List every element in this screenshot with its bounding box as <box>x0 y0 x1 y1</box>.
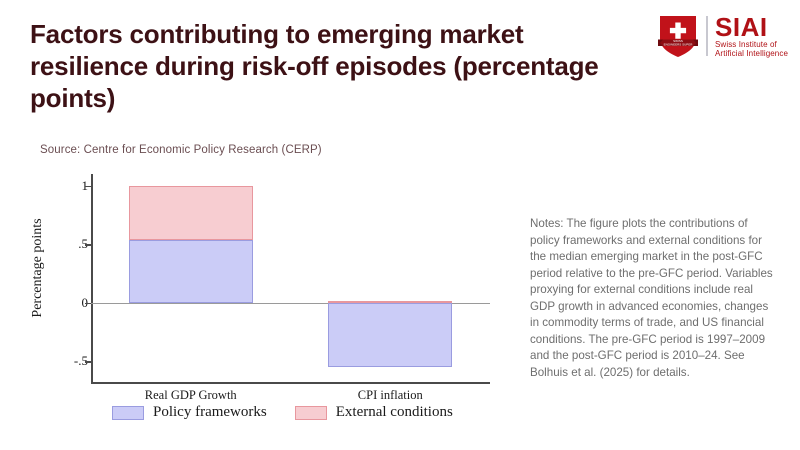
y-tick-label: 1 <box>58 178 88 194</box>
bar-segment[interactable] <box>328 301 452 303</box>
logo-wordmark: SIAI Swiss Institute of Artificial Intel… <box>715 14 788 59</box>
x-category-label: CPI inflation <box>300 388 480 403</box>
svg-text:ENGINEERS SUPER: ENGINEERS SUPER <box>664 42 694 46</box>
legend-entry[interactable]: External conditions <box>295 404 453 421</box>
y-axis-title: Percentage points <box>30 168 46 368</box>
logo-subtitle-line1: Swiss Institute of <box>715 40 788 50</box>
y-tick-label: .5 <box>58 236 88 252</box>
y-axis-tick-labels: 1.50-.5 <box>52 160 88 390</box>
y-axis-tick <box>85 244 91 246</box>
siai-logo: SWISS ENGINEERS SUPER SIAI Swiss Institu… <box>657 12 788 60</box>
logo-acronym: SIAI <box>715 14 788 40</box>
legend-label: Policy frameworks <box>153 404 267 421</box>
bar-segment[interactable] <box>328 303 452 367</box>
bar-segment[interactable] <box>129 240 253 303</box>
swiss-shield-icon: SWISS ENGINEERS SUPER <box>657 13 699 59</box>
figure-notes: Notes: The figure plots the contribution… <box>530 216 778 381</box>
logo-divider <box>706 16 708 56</box>
legend-swatch <box>112 406 144 420</box>
x-axis-line <box>91 382 490 384</box>
y-axis-tick <box>85 186 91 188</box>
legend-swatch <box>295 406 327 420</box>
source-attribution: Source: Centre for Economic Policy Resea… <box>40 144 322 156</box>
legend-label: External conditions <box>336 404 453 421</box>
bar-segment[interactable] <box>129 186 253 240</box>
x-category-label: Real GDP Growth <box>101 388 281 403</box>
y-tick-label: -.5 <box>58 353 88 369</box>
header: Factors contributing to emerging market … <box>0 0 800 140</box>
y-axis-tick <box>85 361 91 363</box>
y-tick-label: 0 <box>58 295 88 311</box>
legend-entry[interactable]: Policy frameworks <box>112 404 267 421</box>
page-title: Factors contributing to emerging market … <box>30 18 630 114</box>
logo-subtitle-line2: Artificial Intelligence <box>715 49 788 59</box>
chart: Percentage points 1.50-.5 Real GDP Growt… <box>0 160 510 440</box>
chart-legend: Policy frameworksExternal conditions <box>112 404 453 421</box>
y-axis-tick <box>85 303 91 305</box>
